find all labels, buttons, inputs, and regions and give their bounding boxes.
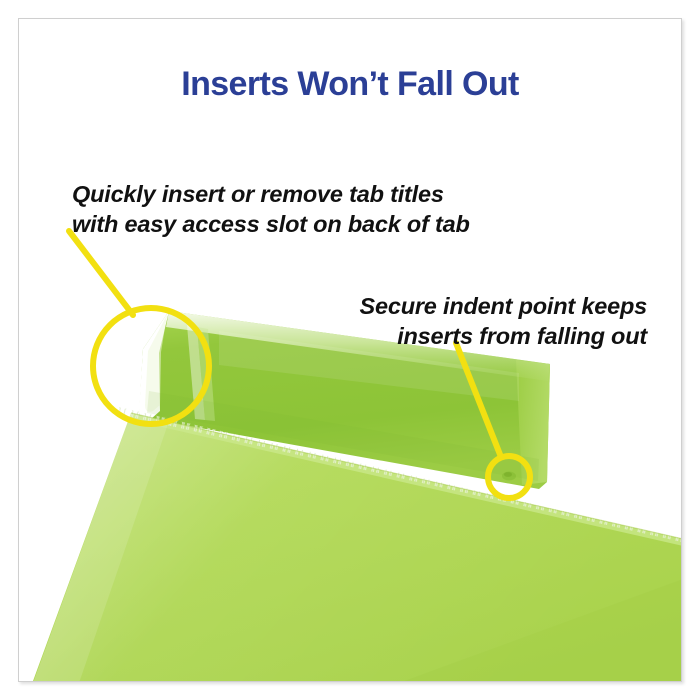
callout-label-left-line2: with easy access slot on back of tab	[72, 209, 470, 239]
page-title: Inserts Won’t Fall Out	[19, 67, 681, 103]
callout-label-right: Secure indent point keeps inserts from f…	[359, 291, 647, 351]
secure-indent-point-detail	[502, 472, 516, 481]
callout-left-leader	[69, 231, 133, 315]
photo-frame: Inserts Won’t Fall Out Quickly insert or…	[18, 18, 682, 682]
callout-label-right-line1: Secure indent point keeps	[359, 291, 647, 321]
screenshot-canvas: Inserts Won’t Fall Out Quickly insert or…	[0, 0, 700, 700]
callout-label-left: Quickly insert or remove tab titles with…	[72, 179, 470, 239]
callout-label-left-line1: Quickly insert or remove tab titles	[72, 179, 470, 209]
callout-label-right-line2: inserts from falling out	[359, 321, 647, 351]
